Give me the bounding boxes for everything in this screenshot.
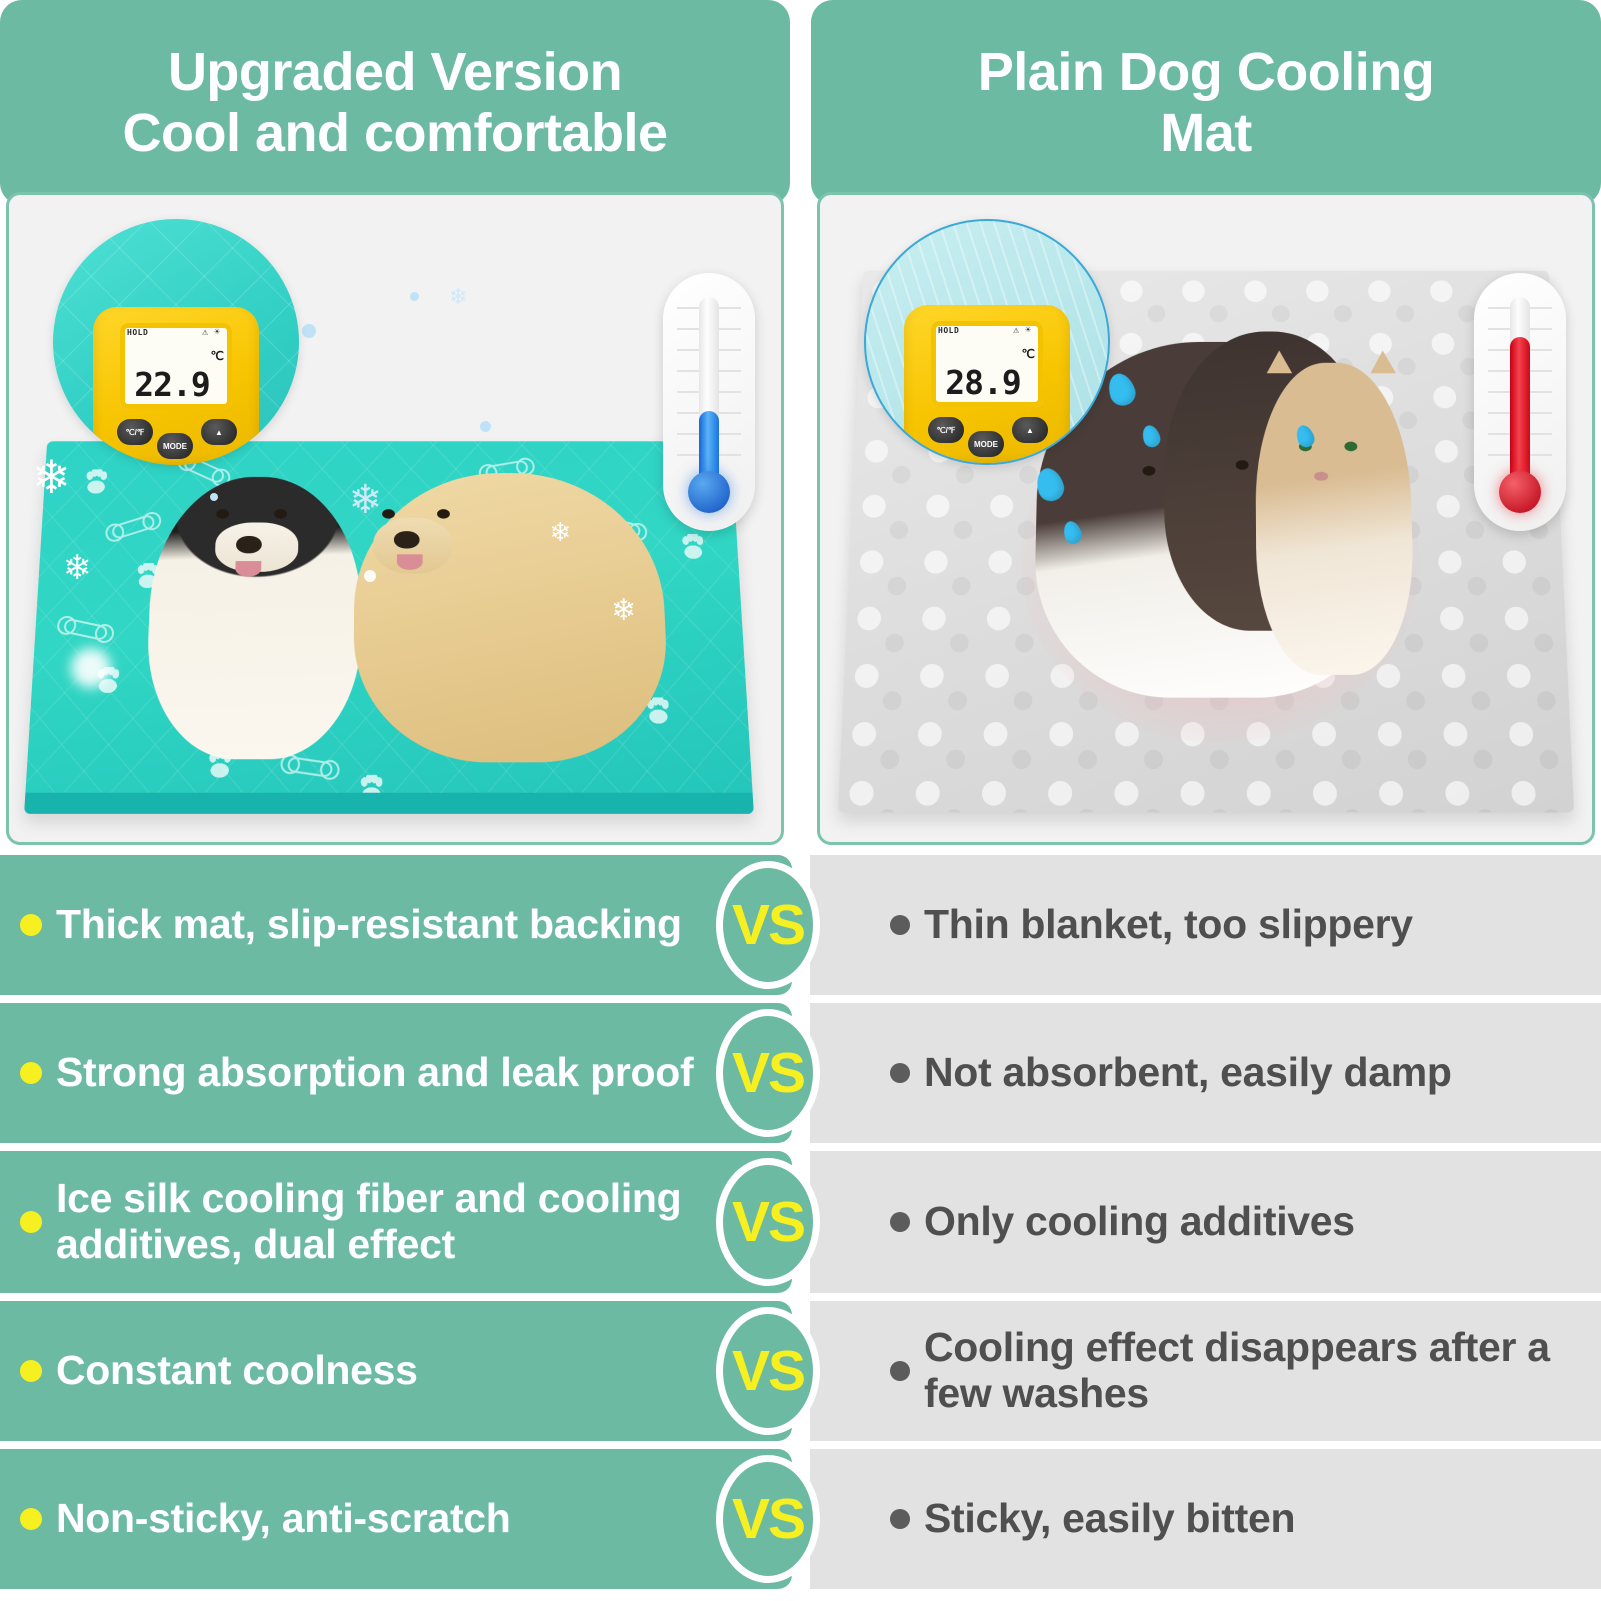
temperature-reading: 22.9 (120, 365, 224, 404)
ir-thermometer-inset-right: HOLD ⚠ ☀ ℃ 28.9 ℃/℉ MODE ▲ (864, 219, 1110, 465)
cf-toggle-button[interactable]: ℃/℉ (928, 417, 964, 443)
ir-thermometer-display: HOLD ⚠ ☀ ℃ 28.9 (931, 321, 1043, 407)
bullet-icon (20, 1211, 42, 1233)
snowflake-icon: ❄ (611, 596, 636, 626)
bullet-icon (20, 1360, 42, 1382)
con-cell: Not absorbent, easily damp (810, 1003, 1601, 1143)
con-text: Cooling effect disappears after a few wa… (924, 1325, 1577, 1417)
temperature-unit: ℃ (211, 349, 224, 363)
display-status-icons: ⚠ ☀ (202, 327, 220, 338)
temperature-reading: 28.9 (931, 363, 1035, 402)
con-cell: Cooling effect disappears after a few wa… (810, 1301, 1601, 1441)
bullet-icon (890, 915, 910, 935)
table-row: Strong absorption and leak proof Not abs… (0, 1003, 1601, 1143)
ir-thermometer-gun: HOLD ⚠ ☀ ℃ 22.9 ℃/℉ MODE ▲ (93, 307, 259, 465)
pro-text: Ice silk cooling fiber and cooling addit… (56, 1176, 722, 1268)
panel-right-title: Plain Dog CoolingMat (978, 42, 1434, 163)
snowflake-icon: ❄ (449, 286, 467, 308)
vs-badge: VS (716, 1455, 820, 1583)
con-cell: Thin blanket, too slippery (810, 855, 1601, 995)
bullet-icon (20, 914, 42, 936)
pro-cell: Thick mat, slip-resistant backing (0, 855, 792, 995)
vs-label: VS (732, 897, 804, 954)
mode-button[interactable]: MODE (157, 433, 193, 459)
temperature-unit: ℃ (1022, 347, 1035, 361)
display-status-icons: ⚠ ☀ (1013, 325, 1031, 336)
pro-text: Strong absorption and leak proof (56, 1050, 693, 1096)
con-text: Thin blanket, too slippery (924, 902, 1413, 948)
laser-button[interactable]: ▲ (201, 419, 237, 445)
vs-label: VS (732, 1194, 804, 1251)
panel-left-photo: ❄ ❄ ❄ ❄ ❄ ❄ ❄ ❄ (6, 192, 784, 845)
cooling-mat-teal (24, 442, 754, 815)
con-text: Only cooling additives (924, 1199, 1355, 1245)
panel-right-header: Plain Dog CoolingMat (811, 0, 1601, 205)
vs-badge: VS (716, 1307, 820, 1435)
laser-button[interactable]: ▲ (1012, 417, 1048, 443)
scene-cool: ❄ ❄ ❄ ❄ ❄ ❄ ❄ ❄ (9, 195, 781, 842)
comparison-table: Thick mat, slip-resistant backing Thin b… (0, 855, 1601, 1601)
hold-indicator: HOLD (127, 328, 148, 337)
infographic-page: Upgraded VersionCool and comfortable (0, 0, 1601, 1601)
product-panels: Upgraded VersionCool and comfortable (0, 0, 1601, 855)
vs-badge: VS (716, 1158, 820, 1286)
thermometer-gauge-hot (1474, 273, 1566, 531)
con-cell: Sticky, easily bitten (810, 1449, 1601, 1589)
pro-cell: Constant coolness (0, 1301, 792, 1441)
bullet-icon (20, 1062, 42, 1084)
mode-button[interactable]: MODE (968, 431, 1004, 457)
ir-thermometer-gun: HOLD ⚠ ☀ ℃ 28.9 ℃/℉ MODE ▲ (904, 305, 1070, 465)
bullet-icon (890, 1063, 910, 1083)
table-row: Non-sticky, anti-scratch Sticky, easily … (0, 1449, 1601, 1589)
vs-label: VS (732, 1045, 804, 1102)
ir-thermometer-inset-left: HOLD ⚠ ☀ ℃ 22.9 ℃/℉ MODE ▲ (53, 219, 299, 465)
table-row: Ice silk cooling fiber and cooling addit… (0, 1151, 1601, 1293)
bullet-icon (20, 1508, 42, 1530)
con-text: Sticky, easily bitten (924, 1496, 1295, 1542)
pro-text: Non-sticky, anti-scratch (56, 1496, 511, 1542)
vs-label: VS (732, 1343, 804, 1400)
snowflake-icon: ❄ (549, 519, 571, 545)
pro-cell: Ice silk cooling fiber and cooling addit… (0, 1151, 792, 1293)
panel-plain-mat: Plain Dog CoolingMat (811, 0, 1601, 855)
pro-cell: Non-sticky, anti-scratch (0, 1449, 792, 1589)
table-row: Constant coolness Cooling effect disappe… (0, 1301, 1601, 1441)
panel-right-photo: HOLD ⚠ ☀ ℃ 28.9 ℃/℉ MODE ▲ (817, 192, 1595, 845)
panel-left-header: Upgraded VersionCool and comfortable (0, 0, 790, 205)
snowflake-icon: ❄ (63, 551, 92, 585)
thermometer-gauge-cold (663, 273, 755, 531)
con-cell: Only cooling additives (810, 1151, 1601, 1293)
hold-indicator: HOLD (938, 326, 959, 335)
bullet-icon (890, 1509, 910, 1529)
panel-upgraded-version: Upgraded VersionCool and comfortable (0, 0, 790, 855)
pro-text: Thick mat, slip-resistant backing (56, 902, 682, 948)
pro-cell: Strong absorption and leak proof (0, 1003, 792, 1143)
bullet-icon (890, 1212, 910, 1232)
ir-thermometer-display: HOLD ⚠ ☀ ℃ 22.9 (120, 323, 232, 409)
table-row: Thick mat, slip-resistant backing Thin b… (0, 855, 1601, 995)
cf-toggle-button[interactable]: ℃/℉ (117, 419, 153, 445)
vs-badge: VS (716, 861, 820, 989)
con-text: Not absorbent, easily damp (924, 1050, 1452, 1096)
vs-label: VS (732, 1491, 804, 1548)
scene-hot: HOLD ⚠ ☀ ℃ 28.9 ℃/℉ MODE ▲ (820, 195, 1592, 842)
cat (1255, 362, 1416, 674)
dog-black-white (143, 477, 361, 760)
bullet-icon (890, 1361, 910, 1381)
panel-left-title: Upgraded VersionCool and comfortable (122, 42, 667, 163)
pro-text: Constant coolness (56, 1348, 418, 1394)
snowflake-icon: ❄ (349, 480, 383, 520)
vs-badge: VS (716, 1009, 820, 1137)
